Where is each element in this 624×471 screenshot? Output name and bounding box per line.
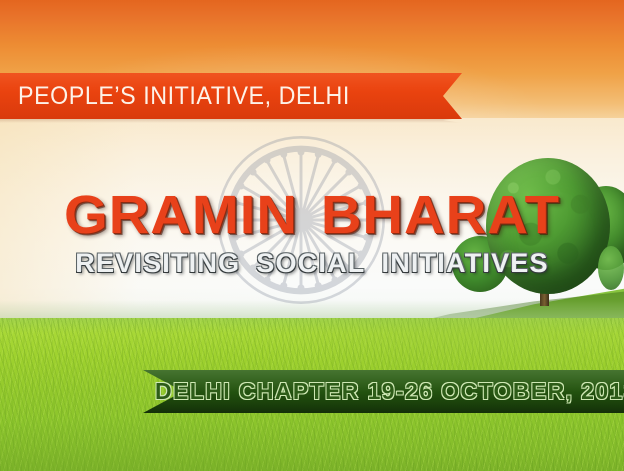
event-title: GRAMINBHARAT	[0, 186, 624, 244]
event-subtitle-word-1: REVISITING	[75, 248, 240, 278]
event-subtitle: REVISITINGSOCIALINITIATIVES	[0, 248, 624, 278]
event-date-label: DELHI CHAPTER 19-26 OCTOBER, 2013	[143, 370, 624, 413]
title-block: GRAMINBHARAT REVISITINGSOCIALINITIATIVES	[0, 186, 624, 278]
event-title-word-2: BHARAT	[321, 185, 560, 245]
event-subtitle-word-2: SOCIAL	[256, 248, 365, 278]
event-banner: PEOPLE’S INITIATIVE, DELHI GRAMINBHARAT …	[0, 0, 624, 471]
organizer-label: PEOPLE’S INITIATIVE, DELHI	[18, 73, 350, 119]
event-title-word-1: GRAMIN	[64, 185, 298, 245]
event-subtitle-word-3: INITIATIVES	[382, 248, 549, 278]
